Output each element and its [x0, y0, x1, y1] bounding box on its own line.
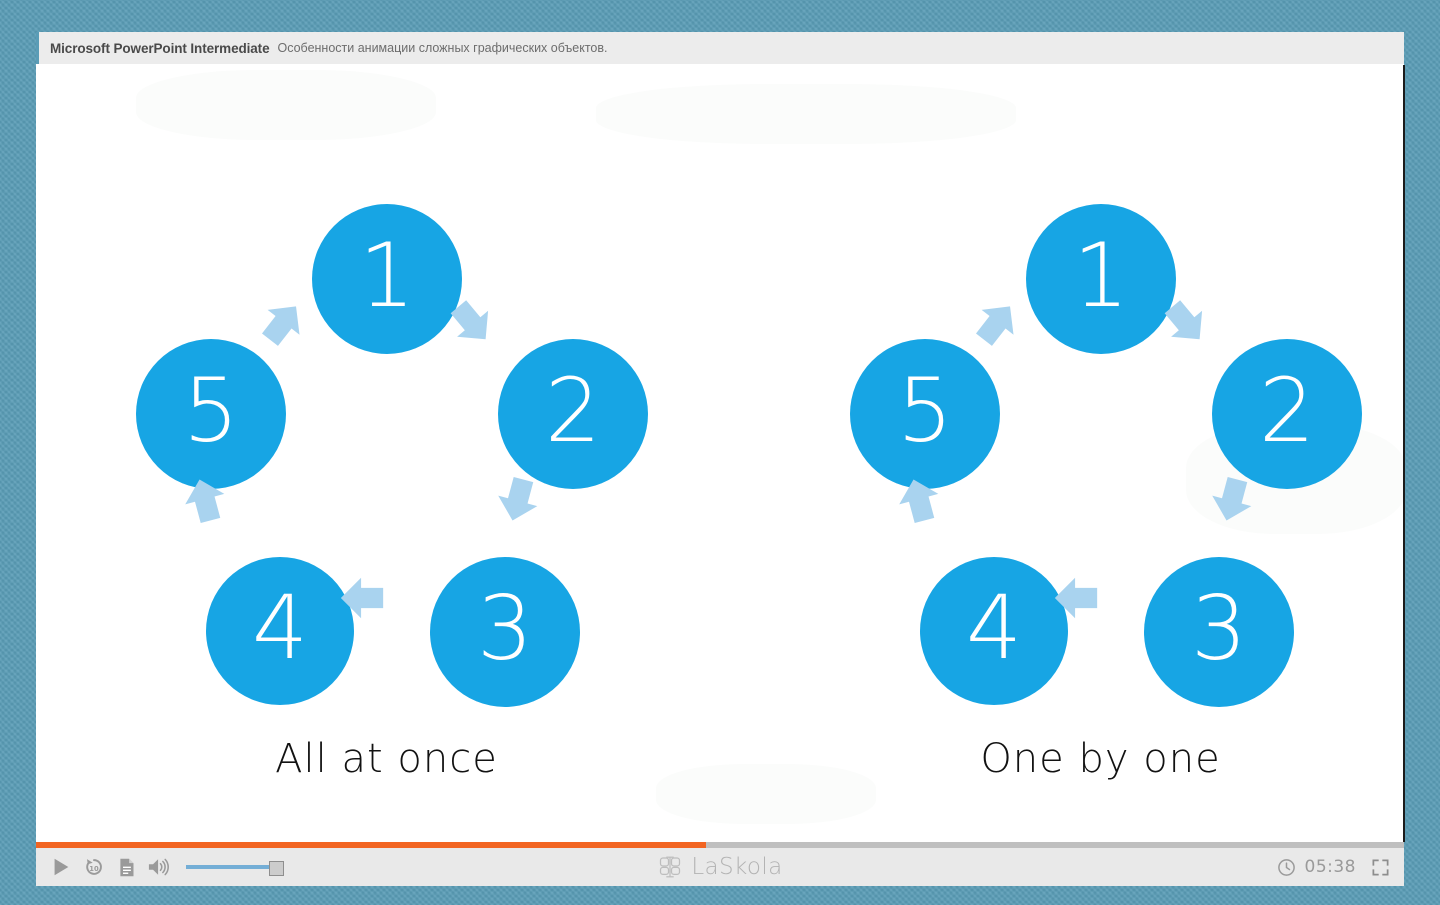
play-icon	[50, 856, 72, 878]
fullscreen-button[interactable]	[1371, 858, 1390, 877]
svg-text:10: 10	[89, 865, 99, 873]
volume-slider[interactable]	[186, 858, 284, 876]
cycle-diagram-all-at-once: 1 2 3 4 5	[114, 172, 659, 717]
cycle-step-circle: 3	[1144, 557, 1294, 707]
time-remaining-label: 05:38	[1305, 857, 1357, 877]
cycle-step-circle: 2	[498, 339, 648, 489]
lesson-subtitle: Особенности анимации сложных графических…	[277, 41, 607, 55]
course-title: Microsoft PowerPoint Intermediate	[50, 41, 269, 56]
volume-icon	[147, 856, 171, 878]
clock-icon	[1277, 858, 1296, 877]
cycle-arrow-icon	[1053, 575, 1099, 621]
rewind-10-button[interactable]: 10	[82, 855, 106, 879]
cycle-diagram-one-by-one: 1 2 3 4 5	[828, 172, 1373, 717]
player-control-bar: 10	[36, 848, 1404, 886]
cycle-step-circle: 5	[136, 339, 286, 489]
cycle-step-circle: 3	[430, 557, 580, 707]
slide-ghost-artifact	[596, 84, 1016, 144]
slide-stage: 1 2 3 4 5 1 2 3 4	[36, 64, 1404, 842]
cycle-step-circle: 4	[206, 557, 354, 705]
cycle-arrow-icon	[251, 291, 316, 356]
notes-document-icon	[116, 857, 137, 878]
cycle-arrow-icon	[965, 291, 1030, 356]
play-button[interactable]	[48, 854, 74, 880]
course-player: Microsoft PowerPoint Intermediate Особен…	[36, 32, 1404, 874]
cycle-step-number: 5	[183, 367, 239, 455]
slide-ghost-artifact	[136, 70, 436, 140]
cycle-step-circle: 5	[850, 339, 1000, 489]
laskola-monogram-icon	[657, 854, 683, 880]
cycle-step-circle: 2	[1212, 339, 1362, 489]
cycle-step-circle: 4	[920, 557, 1068, 705]
cycle-step-number: 2	[545, 367, 601, 455]
player-status-controls: 05:38	[1277, 857, 1405, 877]
cycle-step-circle: 1	[312, 204, 462, 354]
player-header: Microsoft PowerPoint Intermediate Особен…	[36, 32, 1404, 64]
cycle-step-number: 1	[359, 232, 415, 320]
cycle-step-number: 4	[252, 584, 308, 672]
rewind-10-icon: 10	[83, 856, 105, 878]
volume-slider-fill	[186, 865, 269, 869]
cycle-step-number: 2	[1259, 367, 1315, 455]
cycle-arrow-icon	[339, 575, 385, 621]
cycle-step-circle: 1	[1026, 204, 1176, 354]
cycle-step-number: 4	[966, 584, 1022, 672]
brand-name: LaSkola	[691, 854, 782, 880]
vertical-scrollbar[interactable]	[1403, 65, 1405, 842]
diagram-caption-one-by-one: One by one	[828, 736, 1373, 782]
cycle-step-number: 5	[897, 367, 953, 455]
volume-slider-handle[interactable]	[269, 861, 284, 876]
cycle-step-number: 1	[1073, 232, 1129, 320]
cycle-step-number: 3	[477, 585, 533, 673]
notes-button[interactable]	[114, 855, 138, 879]
volume-button[interactable]	[146, 855, 172, 879]
diagram-caption-all-at-once: All at once	[114, 736, 659, 782]
cycle-step-number: 3	[1191, 585, 1247, 673]
